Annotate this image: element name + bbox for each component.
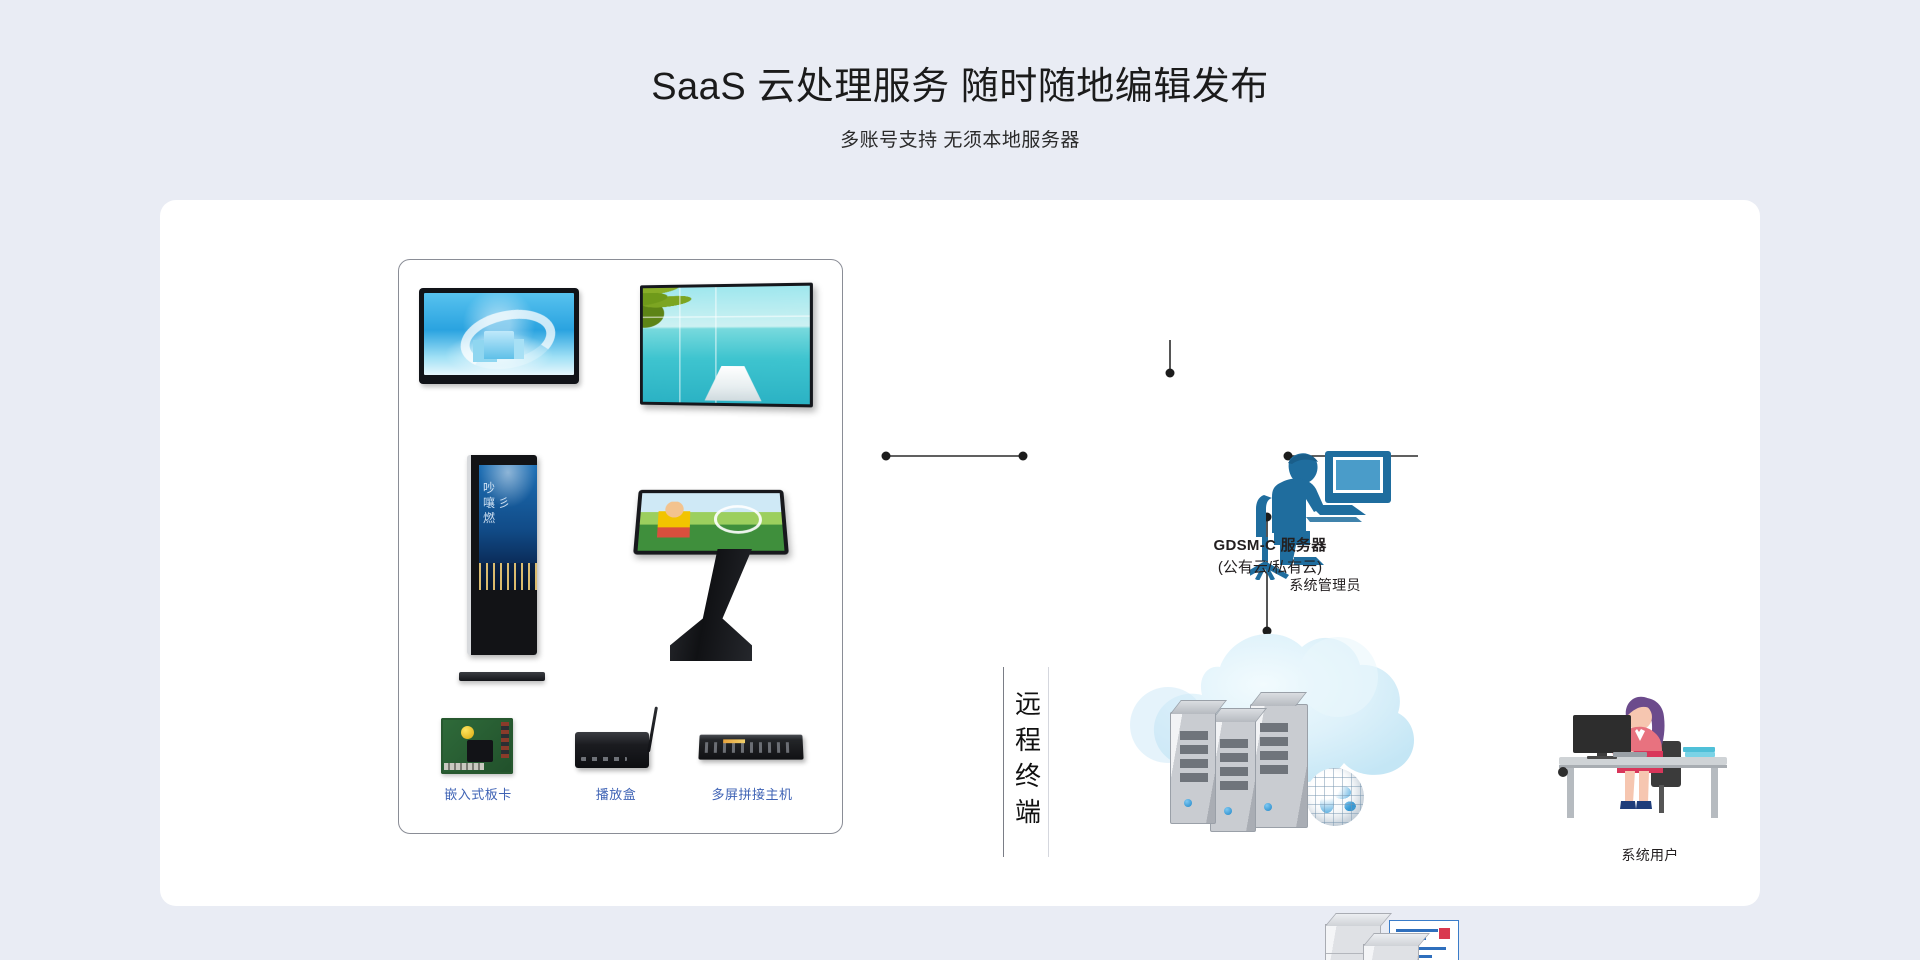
- third-party-server-unit: [1363, 944, 1419, 960]
- board-connector-edge: [444, 763, 484, 770]
- video-wall-content: [643, 286, 810, 405]
- server-led: [1184, 799, 1192, 807]
- totem-base: [459, 672, 545, 681]
- third-party-system-figure: [1325, 910, 1455, 960]
- device-wall-display: [419, 288, 579, 384]
- third-party-server-top: [1325, 913, 1392, 926]
- box-graphic: [575, 732, 649, 768]
- kiosk-screen-content: [638, 493, 785, 551]
- embedded-board-icon: [413, 708, 543, 780]
- server-led: [1264, 803, 1272, 811]
- server-drive-bays: [1260, 723, 1288, 779]
- server-top: [1250, 692, 1307, 706]
- antenna-icon: [647, 706, 658, 752]
- hardware-row: 嵌入式板卡 播放盒 多屏拼接主机: [399, 708, 844, 828]
- remote-terminal-label: 远程终端: [1003, 667, 1049, 857]
- rack-graphic: [698, 735, 803, 760]
- gdsm-server-stack: [1170, 690, 1370, 830]
- doc-line: [1396, 929, 1438, 932]
- server-unit: [1210, 720, 1256, 832]
- server-label-sub: (公有云/私有云): [1160, 557, 1380, 579]
- server-led: [1224, 807, 1232, 815]
- server-drive-bays: [1220, 739, 1248, 795]
- user-label-text: 系统用户: [1555, 845, 1745, 865]
- device-touch-table-kiosk: [636, 485, 786, 675]
- device-floor-standing-kiosk: 吵嚷 彡燃: [459, 455, 545, 673]
- hardware-item-media-player-box: 播放盒: [551, 708, 681, 803]
- hardware-label: 嵌入式板卡: [413, 784, 543, 803]
- hardware-label: 播放盒: [551, 784, 681, 803]
- kiosk-screen: [633, 490, 789, 555]
- server-drive-bays: [1180, 731, 1208, 787]
- wall-display-content: [424, 293, 574, 375]
- server-unit: [1250, 704, 1308, 828]
- page-title: SaaS 云处理服务 随时随地编辑发布: [0, 55, 1920, 110]
- system-user-figure: [1555, 695, 1745, 835]
- hardware-item-splicing-host: 多屏拼接主机: [687, 708, 817, 803]
- video-wall-bezel-grid: [643, 286, 810, 405]
- globe-icon: [1306, 768, 1364, 826]
- server-label-title: GDSM-C 服务器: [1160, 535, 1380, 557]
- totem-body: 吵嚷 彡燃: [467, 455, 537, 655]
- totem-poster-text: 吵嚷 彡燃: [483, 481, 525, 545]
- kiosk-stand: [670, 549, 752, 661]
- hardware-label: 多屏拼接主机: [687, 784, 817, 803]
- hardware-item-embedded-board: 嵌入式板卡: [413, 708, 543, 803]
- splicing-host-icon: [687, 708, 817, 780]
- board-graphic: [441, 718, 513, 774]
- server-label: GDSM-C 服务器 (公有云/私有云): [1160, 535, 1380, 579]
- user-label: 系统用户: [1555, 845, 1745, 865]
- remote-terminal-text: 远程终端: [1008, 690, 1045, 834]
- third-party-server-top: [1363, 933, 1430, 946]
- page-subtitle: 多账号支持 无须本地服务器: [0, 125, 1920, 152]
- doc-badge: [1439, 928, 1450, 939]
- totem-screen-content: 吵嚷 彡燃: [479, 465, 537, 590]
- server-unit: [1170, 712, 1216, 824]
- board-connector: [501, 722, 509, 758]
- diagram-card: 吵嚷 彡燃: [160, 200, 1760, 906]
- terminal-device-panel: 吵嚷 彡燃: [398, 259, 843, 834]
- user-desk-icon: [1555, 695, 1745, 835]
- page-root: SaaS 云处理服务 随时随地编辑发布 多账号支持 无须本地服务器: [0, 0, 1920, 960]
- device-video-wall: [640, 283, 813, 408]
- media-player-box-icon: [551, 708, 681, 780]
